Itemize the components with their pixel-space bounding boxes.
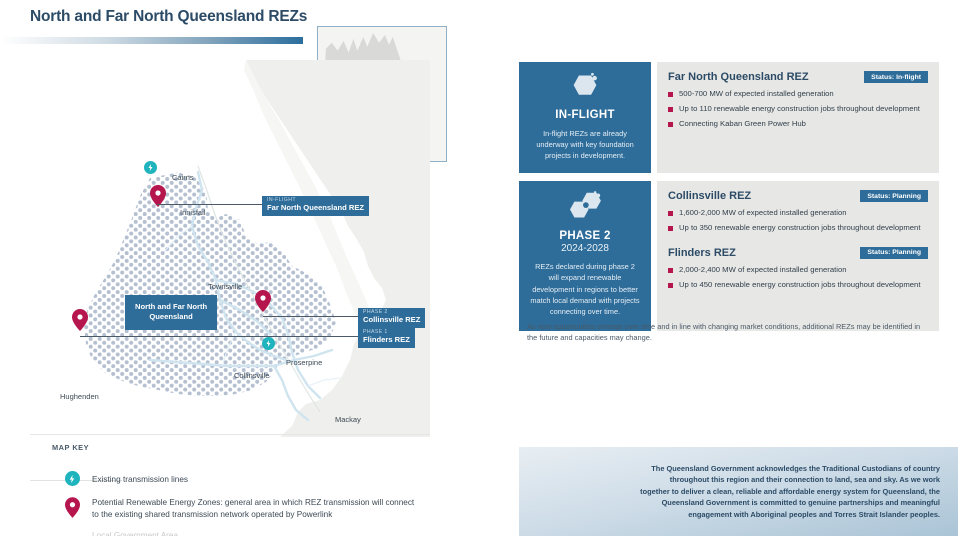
map-key-title: MAP KEY: [52, 443, 452, 452]
status-badge-flinders: Status: Planning: [860, 247, 928, 259]
map-city-label-collinsville: Collinsville: [234, 371, 269, 380]
page-title: North and Far North Queensland REZs: [30, 8, 307, 26]
phase-name-phase-2: PHASE 2: [559, 230, 610, 242]
rez-bullet: 1,600-2,000 MW of expected installed gen…: [668, 208, 928, 219]
map-key-item-rez-label: Potential Renewable Energy Zones: genera…: [92, 497, 422, 521]
status-badge-far-north-queensland: Status: In-flight: [864, 71, 928, 83]
rez-pin-icon-flinders: [72, 309, 88, 331]
bullet-square-icon: [668, 107, 673, 112]
rez-bullet: Up to 450 renewable energy construction …: [668, 280, 928, 291]
rez-bullet-text: 1,600-2,000 MW of expected installed gen…: [679, 208, 847, 219]
map-key-item-lga-label: Local Government Area: [92, 530, 178, 536]
rez-bullet: Up to 350 renewable energy construction …: [668, 223, 928, 234]
rez-pin-icon: [52, 497, 92, 518]
map-city-label-hughenden: Hughenden: [60, 392, 99, 401]
map-region-chip-line1: North and Far North: [135, 302, 207, 311]
rez-phase-list: IN-FLIGHT In-flight REZs are already und…: [519, 62, 939, 339]
status-badge-collinsville: Status: Planning: [860, 190, 928, 202]
transmission-node-icon-south: [262, 337, 275, 350]
main-map-svg: [30, 60, 430, 437]
rez-head-flinders: Flinders REZ Status: Planning: [668, 247, 928, 259]
rez-title-flinders: Flinders REZ: [668, 247, 736, 259]
rez-bullets-far-north-queensland: 500-700 MW of expected installed generat…: [668, 89, 928, 129]
bullet-square-icon: [668, 268, 673, 273]
hexagon-puzzle-icon: [567, 191, 603, 226]
acknowledgement-text: The Queensland Government acknowledges t…: [640, 463, 958, 520]
header-rule-gradient: [0, 37, 303, 44]
callout-leader-far-north: [157, 204, 263, 205]
map-city-label-townsville: Townsville: [208, 282, 242, 291]
rez-bullets-flinders: 2,000-2,400 MW of expected installed gen…: [668, 265, 928, 291]
bullet-square-icon: [668, 283, 673, 288]
rez-bullet-text: Up to 110 renewable energy construction …: [679, 104, 920, 115]
rez-title-far-north-queensland: Far North Queensland REZ: [668, 71, 809, 83]
map-callout-collinsville: PHASE 2 Collinsville REZ: [358, 308, 425, 328]
rez-head-far-north-queensland: Far North Queensland REZ Status: In-flig…: [668, 71, 928, 83]
rez-item-flinders: Flinders REZ Status: Planning 2,000-2,40…: [668, 247, 928, 291]
callout-leader-collinsville: [263, 316, 359, 317]
callout-leader-flinders: [80, 336, 359, 337]
rez-bullet-text: Up to 450 renewable energy construction …: [679, 280, 920, 291]
map-key-item-transmission: Existing transmission lines: [52, 471, 442, 486]
map-callout-name-flinders: Flinders REZ: [363, 336, 410, 345]
rez-item-collinsville: Collinsville REZ Status: Planning 1,600-…: [668, 190, 928, 234]
rez-bullet-text: Up to 350 renewable energy construction …: [679, 223, 920, 234]
map-callout-far-north: IN-FLIGHT Far North Queensland REZ: [262, 196, 369, 216]
bullet-square-icon: [668, 122, 673, 127]
main-map: Cairns Innisfail Townsville Proserpine C…: [30, 60, 430, 437]
rez-infographic-page: North and Far North Queensland REZs: [0, 0, 958, 536]
rez-bullet: Up to 110 renewable energy construction …: [668, 104, 928, 115]
map-region-chip: North and Far North Queensland: [125, 295, 217, 330]
rez-bullet: 2,000-2,400 MW of expected installed gen…: [668, 265, 928, 276]
rez-bullet: 500-700 MW of expected installed generat…: [668, 89, 928, 100]
map-region-chip-line2: Queensland: [149, 312, 192, 321]
map-callout-name-collinsville: Collinsville REZ: [363, 316, 420, 325]
hexagon-single-icon: [570, 72, 600, 105]
rez-item-far-north-queensland: Far North Queensland REZ Status: In-flig…: [668, 71, 928, 129]
bullet-square-icon: [668, 211, 673, 216]
phase-block-in-flight: IN-FLIGHT In-flight REZs are already und…: [519, 62, 939, 173]
phase-card-in-flight: IN-FLIGHT In-flight REZs are already und…: [519, 62, 651, 173]
rez-card-in-flight: Far North Queensland REZ Status: In-flig…: [657, 62, 939, 173]
acknowledgement-panel: The Queensland Government acknowledges t…: [519, 447, 958, 536]
transmission-node-icon-north: [144, 161, 157, 174]
rez-bullet-text: 2,000-2,400 MW of expected installed gen…: [679, 265, 847, 276]
map-callout-flinders: PHASE 1 Flinders REZ: [358, 328, 415, 348]
bullet-square-icon: [668, 92, 673, 97]
phase-name-in-flight: IN-FLIGHT: [555, 109, 615, 121]
rez-card-phase-2: Collinsville REZ Status: Planning 1,600-…: [657, 181, 939, 331]
rez-bullet-text: Connecting Kaban Green Power Hub: [679, 119, 806, 130]
bullet-square-icon: [668, 226, 673, 231]
map-key-item-rez: Potential Renewable Energy Zones: genera…: [52, 497, 442, 521]
map-key-item-transmission-label: Existing transmission lines: [92, 471, 188, 486]
phase-desc-in-flight: In-flight REZs are already underway with…: [529, 128, 641, 161]
map-key: MAP KEY: [52, 443, 452, 452]
map-city-label-proserpine: Proserpine: [286, 358, 322, 367]
phase-card-phase-2: PHASE 2 2024-2028 REZs declared during p…: [519, 181, 651, 331]
transmission-node-icon: [52, 471, 92, 486]
map-city-label-cairns: Cairns: [172, 173, 194, 182]
phase-desc-phase-2: REZs declared during phase 2 will expand…: [529, 261, 641, 317]
phase-block-phase-2: PHASE 2 2024-2028 REZs declared during p…: [519, 181, 939, 331]
rez-bullet-text: 500-700 MW of expected installed generat…: [679, 89, 834, 100]
rez-title-collinsville: Collinsville REZ: [668, 190, 751, 202]
rez-bullet: Connecting Kaban Green Power Hub: [668, 119, 928, 130]
map-city-label-innisfail: Innisfail: [180, 208, 205, 217]
phase-years-phase-2: 2024-2028: [561, 243, 609, 254]
rez-bullets-collinsville: 1,600-2,000 MW of expected installed gen…: [668, 208, 928, 234]
rez-head-collinsville: Collinsville REZ Status: Planning: [668, 190, 928, 202]
map-city-label-mackay: Mackay: [335, 415, 361, 424]
disclaimer-text: As new opportunities emerge over time an…: [527, 321, 927, 343]
map-key-item-lga: Local Government Area: [52, 530, 442, 536]
rez-pin-icon-collinsville: [255, 290, 271, 312]
map-callout-name-far-north: Far North Queensland REZ: [267, 204, 364, 213]
